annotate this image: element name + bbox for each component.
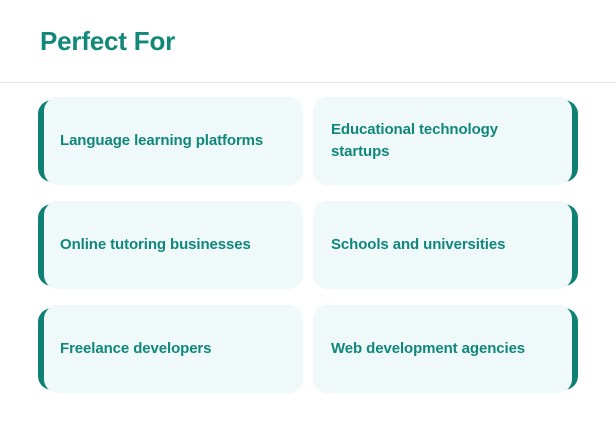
card-label: Educational technology startups [331,119,556,163]
use-case-card-grid: Language learning platforms Educational … [0,83,616,393]
card-label: Freelance developers [60,338,211,360]
card-label: Schools and universities [331,234,505,256]
card-label: Web development agencies [331,338,525,360]
card-body: Freelance developers [44,305,303,393]
card-label: Online tutoring businesses [60,234,251,256]
card-body: Web development agencies [313,305,572,393]
perfect-for-page: Perfect For Language learning platforms … [0,0,616,434]
use-case-card[interactable]: Web development agencies [313,305,578,393]
use-case-card[interactable]: Schools and universities [313,201,578,289]
use-case-card[interactable]: Freelance developers [38,305,303,393]
card-row: Freelance developers Web development age… [38,305,578,393]
card-body: Language learning platforms [44,97,303,185]
card-body: Schools and universities [313,201,572,289]
card-row: Language learning platforms Educational … [38,97,578,185]
use-case-card[interactable]: Educational technology startups [313,97,578,185]
page-title: Perfect For [40,27,175,56]
use-case-card[interactable]: Language learning platforms [38,97,303,185]
card-body: Online tutoring businesses [44,201,303,289]
card-row: Online tutoring businesses Schools and u… [38,201,578,289]
card-body: Educational technology startups [313,97,572,185]
use-case-card[interactable]: Online tutoring businesses [38,201,303,289]
card-label: Language learning platforms [60,130,263,152]
page-header: Perfect For [0,0,616,83]
